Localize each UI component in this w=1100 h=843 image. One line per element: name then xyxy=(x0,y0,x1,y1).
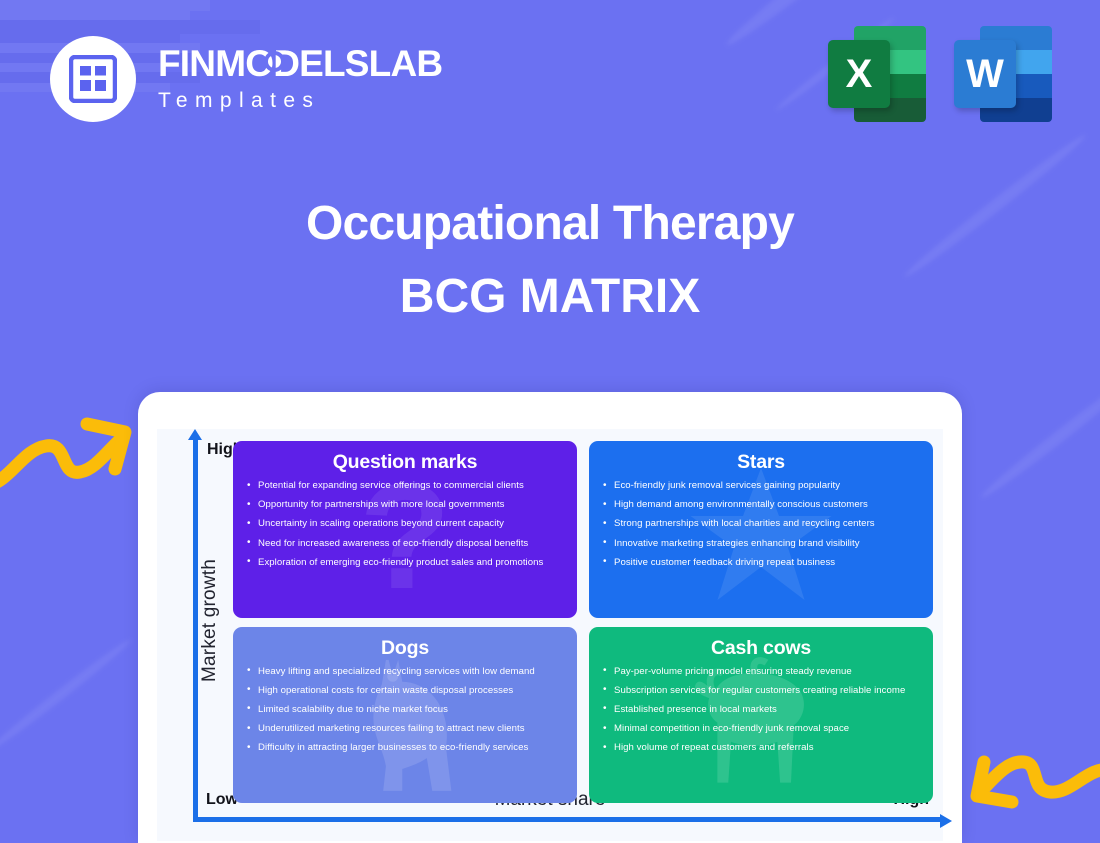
list-item: Need for increased awareness of eco-frie… xyxy=(246,539,564,549)
background-texture-stroke xyxy=(0,636,134,755)
quadrant-bullet-list: Potential for expanding service offering… xyxy=(246,481,564,567)
squiggly-arrow-up-right-icon xyxy=(0,398,134,503)
excel-badge-letter: X xyxy=(828,40,890,108)
quadrant-bullet-list: Eco-friendly junk removal services gaini… xyxy=(602,481,920,567)
list-item: Exploration of emerging eco-friendly pro… xyxy=(246,558,564,568)
excel-icon[interactable]: X xyxy=(828,26,926,122)
quadrant-bullet-list: Pay-per-volume pricing model ensuring st… xyxy=(602,667,920,753)
list-item: Established presence in local markets xyxy=(602,705,920,715)
list-item: Eco-friendly junk removal services gaini… xyxy=(602,481,920,491)
quadrant-bullet-list: Heavy lifting and specialized recycling … xyxy=(246,667,564,753)
matrix-card: High Market growth Low Market share High… xyxy=(138,392,962,843)
brand-logo: FINMODELSLAB Templates xyxy=(50,36,442,122)
x-axis-line xyxy=(193,817,945,822)
quadrant-dogs[interactable]: Dogs Heavy lifting and specialized recyc… xyxy=(233,627,577,804)
grid-squares-icon xyxy=(69,55,117,103)
brand-name-text: FINMODELSLAB xyxy=(158,43,442,84)
list-item: Heavy lifting and specialized recycling … xyxy=(246,667,564,677)
file-format-icons: X W xyxy=(828,26,1052,122)
list-item: Pay-per-volume pricing model ensuring st… xyxy=(602,667,920,677)
list-item: Subscription services for regular custom… xyxy=(602,686,920,696)
list-item: Strong partnerships with local charities… xyxy=(602,519,920,529)
y-axis-title: Market growth xyxy=(199,559,221,682)
list-item: High operational costs for certain waste… xyxy=(246,686,564,696)
background-texture-stroke xyxy=(0,0,210,11)
quadrant-title: Dogs xyxy=(246,637,564,660)
list-item: Underutilized marketing resources failin… xyxy=(246,724,564,734)
brand-wordmark: FINMODELSLAB Templates xyxy=(158,45,442,113)
quadrant-question-marks[interactable]: ? Question marks Potential for expanding… xyxy=(233,441,577,618)
list-item: Uncertainty in scaling operations beyond… xyxy=(246,519,564,529)
x-axis-arrowhead xyxy=(940,814,952,828)
list-item: Positive customer feedback driving repea… xyxy=(602,558,920,568)
list-item: High demand among environmentally consci… xyxy=(602,500,920,510)
y-axis-line xyxy=(193,437,198,822)
quadrant-title: Stars xyxy=(602,451,920,474)
background-texture-stroke xyxy=(978,370,1100,503)
list-item: Difficulty in attracting larger business… xyxy=(246,743,564,753)
list-item: Innovative marketing strategies enhancin… xyxy=(602,539,920,549)
brand-name: FINMODELSLAB xyxy=(158,45,442,82)
title-subject: Occupational Therapy xyxy=(0,196,1100,253)
background-texture-stroke xyxy=(0,11,190,20)
list-item: Opportunity for partnerships with more l… xyxy=(246,500,564,510)
quadrant-title: Cash cows xyxy=(602,637,920,660)
power-stem-icon xyxy=(272,47,276,55)
quadrant-cash-cows[interactable]: Cash cows Pay-per-volume pricing model e… xyxy=(589,627,933,804)
list-item: High volume of repeat customers and refe… xyxy=(602,743,920,753)
quadrant-title: Question marks xyxy=(246,451,564,474)
list-item: Limited scalability due to niche market … xyxy=(246,705,564,715)
slide-canvas: FINMODELSLAB Templates X W Occupational … xyxy=(0,0,1100,843)
quadrant-grid: ? Question marks Potential for expanding… xyxy=(233,441,933,803)
squiggly-arrow-down-left-icon xyxy=(962,748,1100,843)
title-framework: BCG MATRIX xyxy=(0,269,1100,326)
page-title: Occupational Therapy BCG MATRIX xyxy=(0,196,1100,325)
brand-tagline: Templates xyxy=(158,89,442,113)
logo-badge xyxy=(50,36,136,122)
quadrant-stars[interactable]: Stars Eco-friendly junk removal services… xyxy=(589,441,933,618)
word-icon[interactable]: W xyxy=(954,26,1052,122)
bcg-matrix: High Market growth Low Market share High… xyxy=(157,429,943,841)
list-item: Minimal competition in eco-friendly junk… xyxy=(602,724,920,734)
word-badge-letter: W xyxy=(954,40,1016,108)
background-texture-stroke xyxy=(0,20,260,34)
list-item: Potential for expanding service offering… xyxy=(246,481,564,491)
